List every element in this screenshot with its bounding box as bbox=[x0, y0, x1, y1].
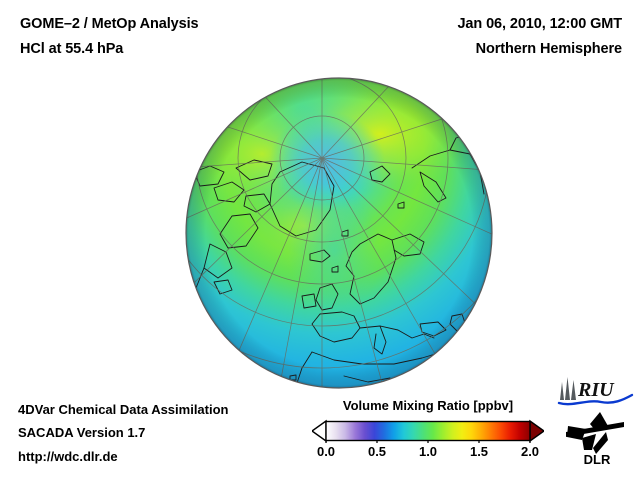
colorbar-under-arrow bbox=[312, 421, 326, 441]
colorbar-tick-labels: 0.0 0.5 1.0 1.5 2.0 bbox=[312, 444, 544, 464]
page-subtitle: HCl at 55.4 hPa bbox=[20, 41, 123, 57]
colorbar-tick-4: 2.0 bbox=[521, 444, 539, 459]
colorbar: Volume Mixing Ratio [ppbv] bbox=[312, 398, 544, 464]
riu-skyline-icon bbox=[560, 377, 576, 400]
credit-line-url: http://wdc.dlr.de bbox=[18, 449, 118, 464]
colorbar-tick-0: 0.0 bbox=[317, 444, 335, 459]
colorbar-title: Volume Mixing Ratio [ppbv] bbox=[312, 398, 544, 413]
dlr-wordmark: DLR bbox=[584, 452, 611, 466]
colorbar-over-arrow bbox=[530, 421, 544, 441]
credit-line-project: 4DVar Chemical Data Assimilation bbox=[18, 402, 229, 417]
colorbar-tick-3: 1.5 bbox=[470, 444, 488, 459]
colorbar-tick-2: 1.0 bbox=[419, 444, 437, 459]
riu-wordmark: RIU bbox=[577, 379, 615, 401]
dlr-emblem-icon bbox=[566, 412, 624, 454]
dlr-logo: DLR bbox=[562, 410, 632, 466]
region-label: Northern Hemisphere bbox=[476, 41, 622, 57]
riu-logo: RIU bbox=[557, 374, 635, 408]
timestamp-label: Jan 06, 2010, 12:00 GMT bbox=[457, 16, 622, 32]
credit-line-version: SACADA Version 1.7 bbox=[18, 425, 145, 440]
colorbar-tick-1: 0.5 bbox=[368, 444, 386, 459]
visualization-page: GOME–2 / MetOp Analysis HCl at 55.4 hPa … bbox=[0, 0, 640, 480]
colorbar-gradient bbox=[312, 419, 544, 443]
page-title: GOME–2 / MetOp Analysis bbox=[20, 16, 198, 32]
globe-map bbox=[184, 76, 494, 390]
colorbar-ramp bbox=[326, 422, 530, 441]
